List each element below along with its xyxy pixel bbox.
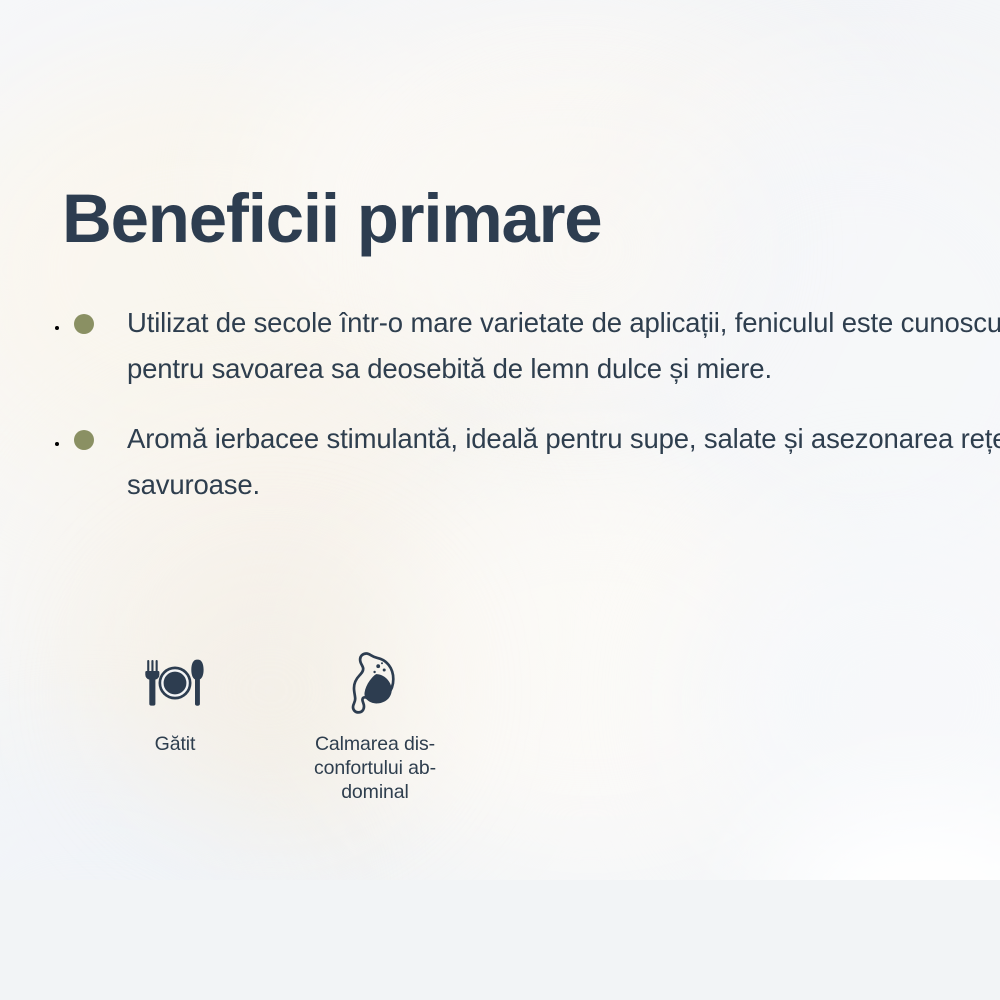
plate-cutlery-icon	[143, 648, 207, 718]
benefit-text: Utilizat de secole într-o mare varietate…	[127, 307, 1000, 384]
benefit-icon-cooking: Gătit	[100, 648, 250, 756]
benefit-icon-abdominal-comfort: Calmarea dis- confortului ab- dominal	[296, 648, 454, 804]
page-title: Beneficii primare	[62, 183, 601, 255]
slide-canvas: Beneficii primare Utilizat de secole înt…	[0, 0, 1000, 1000]
bullet-dot-icon	[74, 430, 94, 450]
benefit-text: Aromă ierbacee stimulantă, ideală pentru…	[127, 423, 1000, 500]
stomach-icon	[345, 648, 405, 718]
list-item: Aromă ierbacee stimulantă, ideală pentru…	[70, 416, 1000, 508]
slide-content: Beneficii primare Utilizat de secole înt…	[0, 0, 1000, 1000]
benefit-icons-row: Gătit Calmarea dis-	[100, 648, 454, 804]
bullet-dot-icon	[74, 314, 94, 334]
benefit-icon-label: Calmarea dis- confortului ab- dominal	[314, 732, 436, 804]
benefit-icon-label: Gătit	[155, 732, 196, 756]
benefits-list: Utilizat de secole într-o mare varietate…	[70, 300, 1000, 532]
list-item: Utilizat de secole într-o mare varietate…	[70, 300, 1000, 392]
